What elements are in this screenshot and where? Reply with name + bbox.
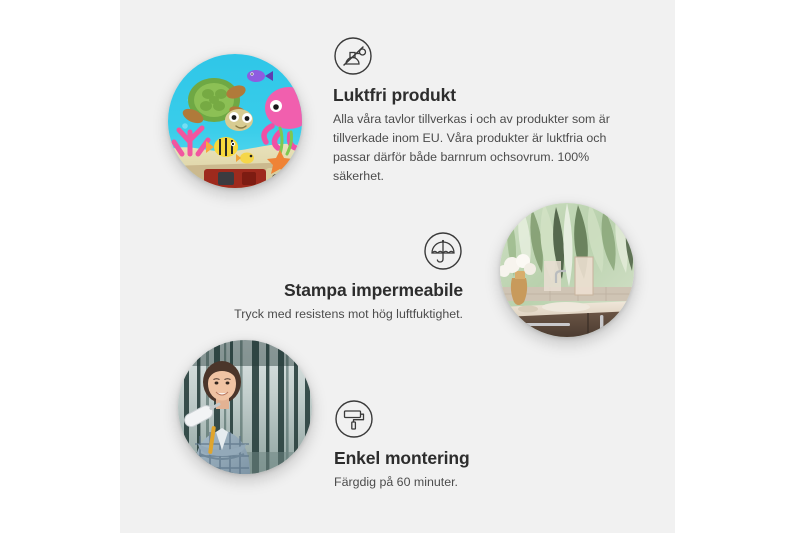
- umbrella-icon: [423, 231, 463, 271]
- feature-description: Färgdig på 60 minuter.: [334, 473, 594, 492]
- no-fragrance-spray-icon: [333, 36, 373, 76]
- underwater-cartoon-photo: [168, 54, 302, 188]
- paint-roller-icon: [334, 399, 374, 439]
- feature-title: Stampa impermeabile: [218, 280, 463, 300]
- feature-odourless: Luktfri produkt Alla våra tavlor tillver…: [333, 36, 633, 186]
- feature-waterproof: Stampa impermeabile Tryck med resistens …: [218, 231, 463, 324]
- feature-title: Enkel montering: [334, 448, 594, 468]
- feature-assembly: Enkel montering Färgdig på 60 minuter.: [334, 399, 594, 492]
- painter-forest-photo: [178, 340, 312, 474]
- feature-description: Tryck med resistens mot hög luftfuktighe…: [218, 305, 463, 324]
- feature-banner: Luktfri produkt Alla våra tavlor tillver…: [0, 0, 800, 533]
- feature-description: Alla våra tavlor tillverkas i och av pro…: [333, 110, 623, 185]
- feature-title: Luktfri produkt: [333, 85, 633, 105]
- bathroom-wallpaper-photo: [500, 203, 634, 337]
